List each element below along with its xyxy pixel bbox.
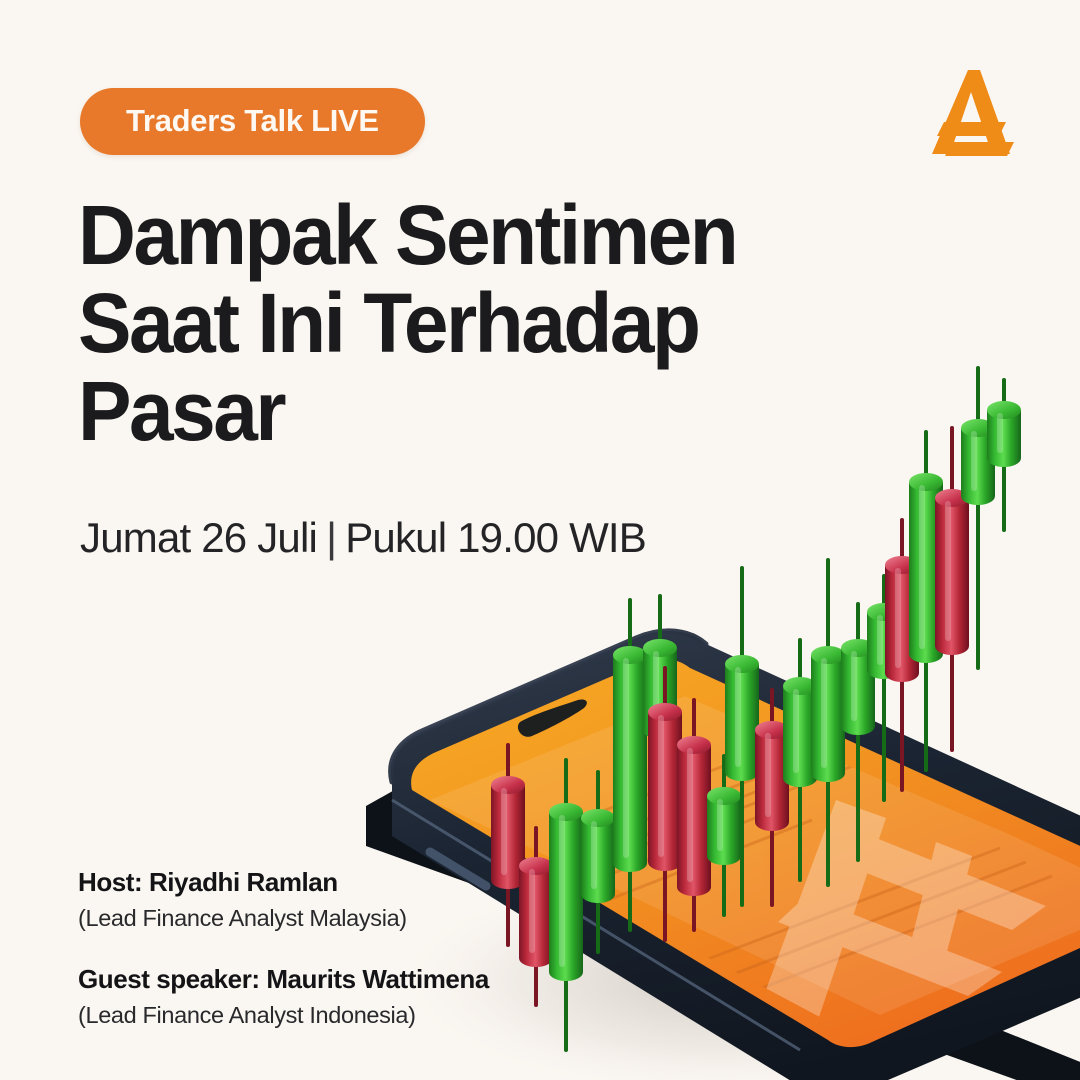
- event-date: Jumat 26 Juli: [80, 514, 317, 561]
- event-datetime: Jumat 26 Juli|Pukul 19.00 WIB: [80, 514, 646, 562]
- host-name: Host: Riyadhi Ramlan: [78, 866, 489, 899]
- speaker-credits: Host: Riyadhi Ramlan (Lead Finance Analy…: [78, 866, 489, 1030]
- ascendex-a-logo: [916, 56, 1028, 168]
- guest-role: (Lead Finance Analyst Indonesia): [78, 1000, 489, 1031]
- promo-poster: Traders Talk LIVE Dampak Sentimen Saat I…: [0, 0, 1080, 1080]
- host-role: (Lead Finance Analyst Malaysia): [78, 903, 489, 934]
- headline-line-2: Saat Ini Terhadap: [78, 280, 785, 368]
- credit-host: Host: Riyadhi Ramlan (Lead Finance Analy…: [78, 866, 489, 933]
- live-badge: Traders Talk LIVE: [80, 88, 425, 155]
- credit-guest: Guest speaker: Maurits Wattimena (Lead F…: [78, 963, 489, 1030]
- guest-name: Guest speaker: Maurits Wattimena: [78, 963, 489, 996]
- headline-line-1: Dampak Sentimen: [78, 192, 785, 280]
- datetime-separator: |: [317, 514, 345, 561]
- event-time: Pukul 19.00 WIB: [345, 514, 646, 561]
- headline-line-3: Pasar: [78, 368, 785, 456]
- page-title: Dampak Sentimen Saat Ini Terhadap Pasar: [78, 192, 785, 455]
